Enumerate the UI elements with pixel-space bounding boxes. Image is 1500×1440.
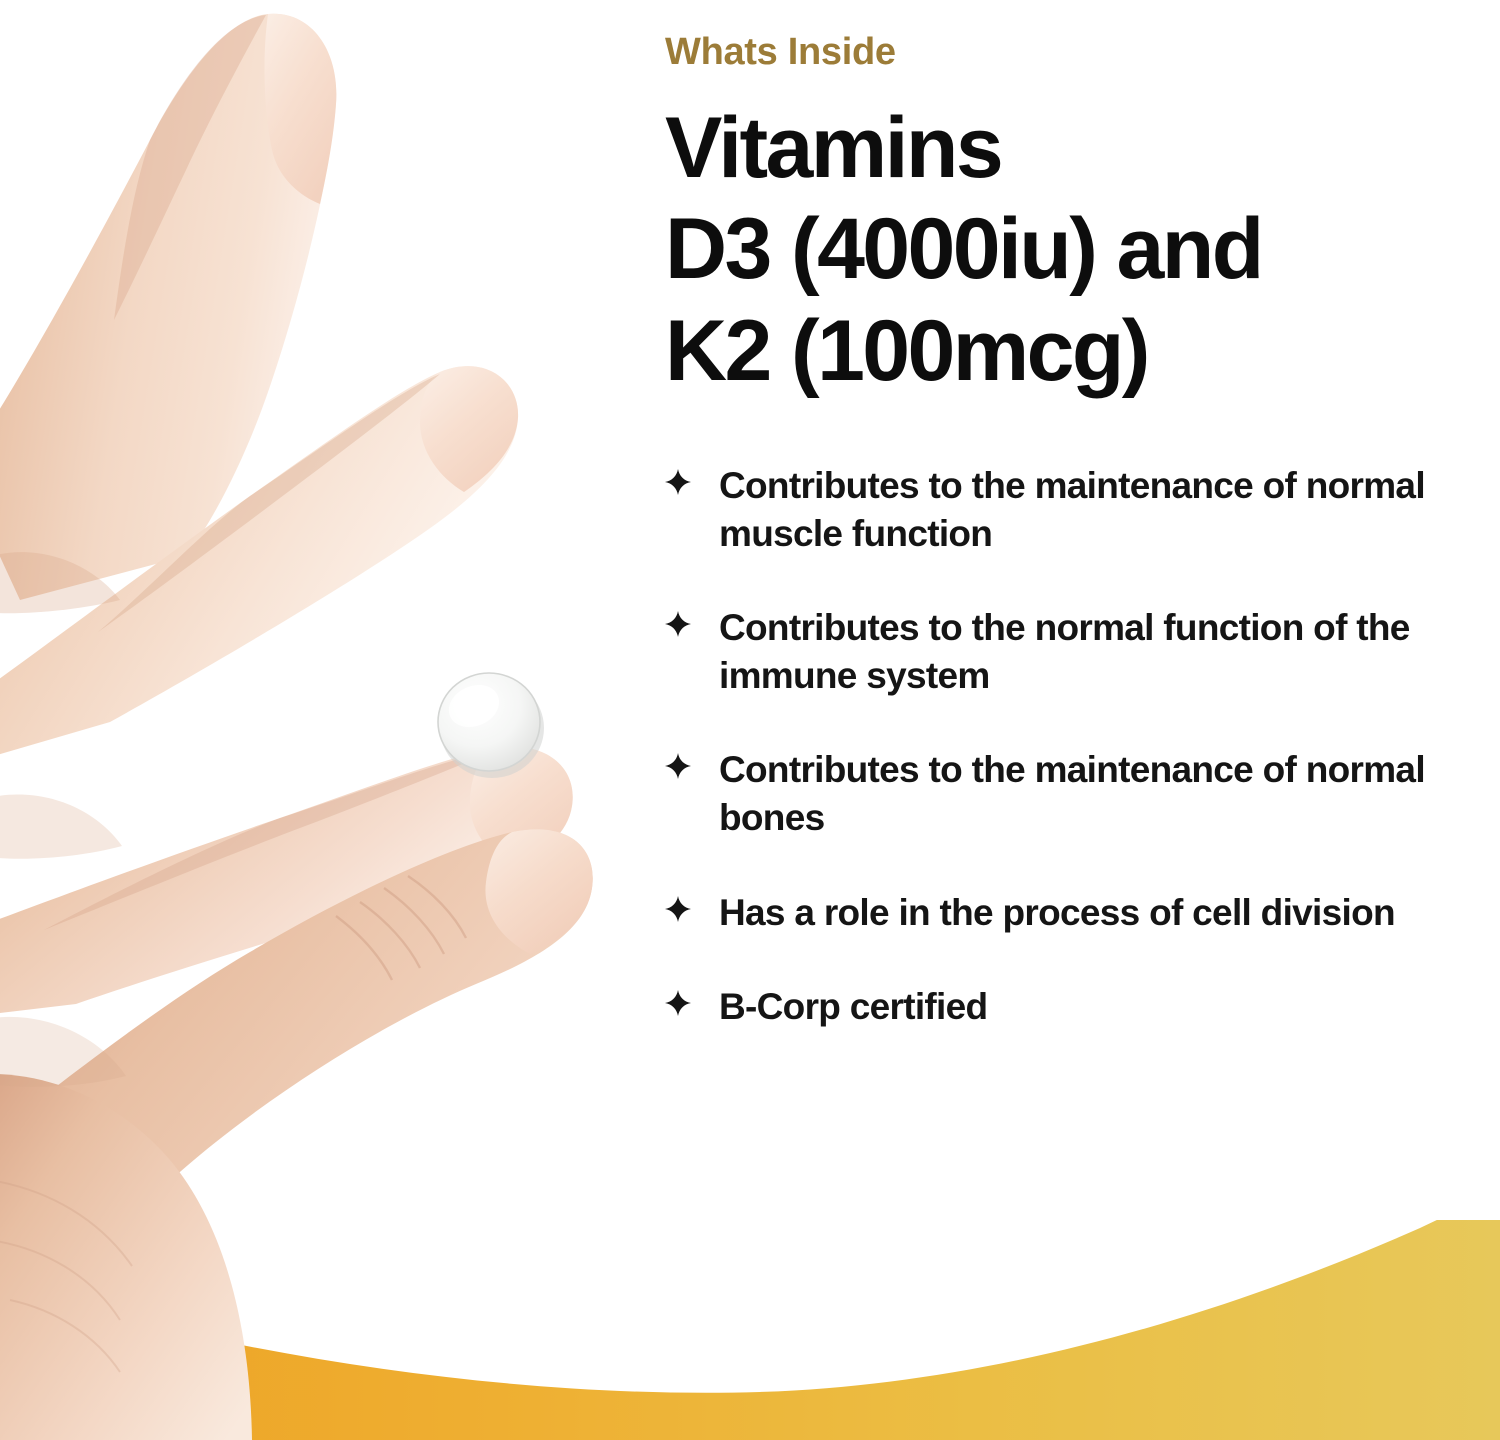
benefit-text: Contributes to the maintenance of normal… — [719, 462, 1449, 558]
benefit-text: Has a role in the process of cell divisi… — [719, 889, 1395, 937]
eyebrow-label: Whats Inside — [665, 30, 1455, 76]
four-pointed-star-icon — [665, 983, 699, 1023]
headline-line-3: K2 (100mcg) — [665, 301, 1455, 402]
page-title: Vitamins D3 (4000iu) and K2 (100mcg) — [665, 98, 1455, 402]
four-pointed-star-icon — [665, 604, 699, 644]
list-item: B-Corp certified — [665, 983, 1455, 1031]
list-item: Contributes to the maintenance of normal… — [665, 462, 1455, 558]
four-pointed-star-icon — [665, 462, 699, 502]
product-benefits-banner: Whats Inside Vitamins D3 (4000iu) and K2… — [0, 0, 1500, 1440]
headline-line-1: Vitamins — [665, 98, 1455, 199]
benefit-text: Contributes to the normal function of th… — [719, 604, 1449, 700]
benefit-text: B-Corp certified — [719, 983, 987, 1031]
list-item: Contributes to the maintenance of normal… — [665, 746, 1455, 842]
four-pointed-star-icon — [665, 746, 699, 786]
four-pointed-star-icon — [665, 889, 699, 929]
hand-holding-pill-photo — [0, 0, 660, 1440]
headline-line-2: D3 (4000iu) and — [665, 199, 1455, 300]
benefits-content-panel: Whats Inside Vitamins D3 (4000iu) and K2… — [665, 0, 1455, 1440]
white-round-tablet — [438, 673, 544, 778]
benefit-text: Contributes to the maintenance of normal… — [719, 746, 1449, 842]
list-item: Has a role in the process of cell divisi… — [665, 889, 1455, 937]
benefits-list: Contributes to the maintenance of normal… — [665, 462, 1455, 1031]
list-item: Contributes to the normal function of th… — [665, 604, 1455, 700]
